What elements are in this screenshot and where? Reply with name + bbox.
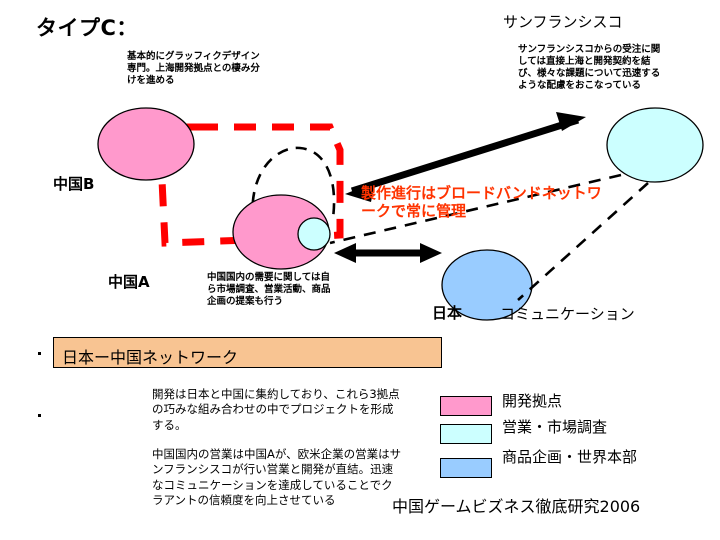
- slide-canvas: タイプC： サンフランシスコ 基本的にグラッフィクデザイン専門。上海開発拠点との…: [0, 0, 720, 540]
- bullet-marker-icon: [38, 414, 41, 417]
- node-label-china-a: 中国A: [108, 274, 150, 292]
- note-china-b: 基本的にグラッフィクデザイン専門。上海開発拠点との棲み分けを進める: [127, 51, 262, 87]
- page-title: タイプC：: [36, 16, 138, 41]
- annotation-broadband-network: 製作進行はブロードバンドネットワークで常に管理: [361, 184, 611, 220]
- node-china-a-inner-sales[interactable]: [298, 218, 330, 250]
- annotation-communication: コミュニケーション: [500, 306, 635, 324]
- node-label-san-francisco: サンフランシスコ: [503, 14, 623, 32]
- note-san-francisco: サンフランシスコからの受注に関しては直接上海と開発契約を結び、様々な課題について…: [518, 44, 663, 93]
- node-label-china-b: 中国B: [53, 176, 94, 194]
- body-paragraph-2: 中国国内の営業は中国Aが、欧米企業の営業はサンフランシスコが行い営業と開発が直結…: [152, 447, 402, 508]
- network-banner-label: 日本ー中国ネットワーク: [62, 349, 238, 368]
- legend-swatch-sales-market-research: [440, 424, 492, 444]
- bullet-marker-icon: [38, 352, 41, 355]
- source-credit: 中国ゲームビズネス徹底研究2006: [392, 498, 640, 517]
- note-china-a: 中国国内の需要に関しては自ら市場調査、営業活動、商品企画の提案も行う: [207, 272, 335, 308]
- legend-label-product-planning-hq: 商品企画・世界本部: [502, 446, 637, 467]
- body-paragraph-1: 開発は日本と中国に集約しており、これら3拠点の巧みな組み合わせの中でプロジェクト…: [152, 387, 402, 433]
- node-china-b[interactable]: [98, 108, 194, 180]
- legend-label-development-base: 開発拠点: [502, 390, 562, 411]
- arrow-china-a-to-japan: [334, 243, 442, 263]
- node-san-francisco[interactable]: [607, 108, 703, 182]
- node-label-japan: 日本: [432, 305, 462, 323]
- legend-swatch-development-base: [440, 396, 492, 416]
- legend-label-sales-market-research: 営業・市場調査: [502, 416, 607, 437]
- legend-swatch-product-planning-hq: [440, 458, 492, 478]
